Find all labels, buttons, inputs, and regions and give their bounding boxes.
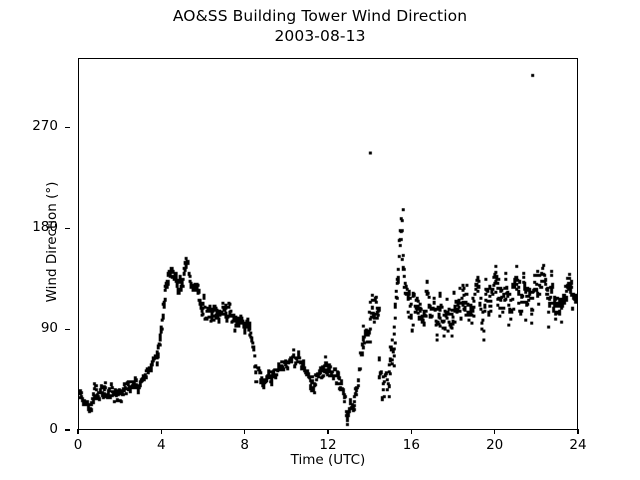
x-tick-label: 24 <box>558 437 598 453</box>
x-tick-label: 20 <box>475 437 515 453</box>
chart-title-block: AO&SS Building Tower Wind Direction 2003… <box>0 6 640 47</box>
scatter-data-layer <box>79 59 577 429</box>
x-tick-mark <box>77 429 78 434</box>
chart-subtitle: 2003-08-13 <box>0 26 640 46</box>
x-tick-label: 16 <box>391 437 431 453</box>
chart-title: AO&SS Building Tower Wind Direction <box>0 6 640 26</box>
x-tick-label: 0 <box>58 437 98 453</box>
x-tick-mark <box>244 429 245 434</box>
x-tick-mark <box>411 429 412 434</box>
plot-area <box>78 58 578 430</box>
x-tick-label: 8 <box>225 437 265 453</box>
x-tick-label: 12 <box>308 437 348 453</box>
y-tick-label: 270 <box>32 118 58 134</box>
x-axis-label: Time (UTC) <box>78 452 578 468</box>
y-axis-ticks: 090180270 <box>0 58 70 430</box>
y-tick-mark <box>65 429 70 430</box>
x-tick-mark <box>161 429 162 434</box>
y-tick-mark <box>65 329 70 330</box>
x-tick-mark <box>327 429 328 434</box>
x-tick-mark <box>494 429 495 434</box>
y-tick-mark <box>65 127 70 128</box>
y-tick-mark <box>65 228 70 229</box>
y-tick-label: 180 <box>32 219 58 235</box>
y-tick-label: 0 <box>49 421 58 437</box>
x-tick-mark <box>577 429 578 434</box>
chart-figure: AO&SS Building Tower Wind Direction 2003… <box>0 0 640 480</box>
x-tick-label: 4 <box>141 437 181 453</box>
y-tick-label: 90 <box>41 320 58 336</box>
